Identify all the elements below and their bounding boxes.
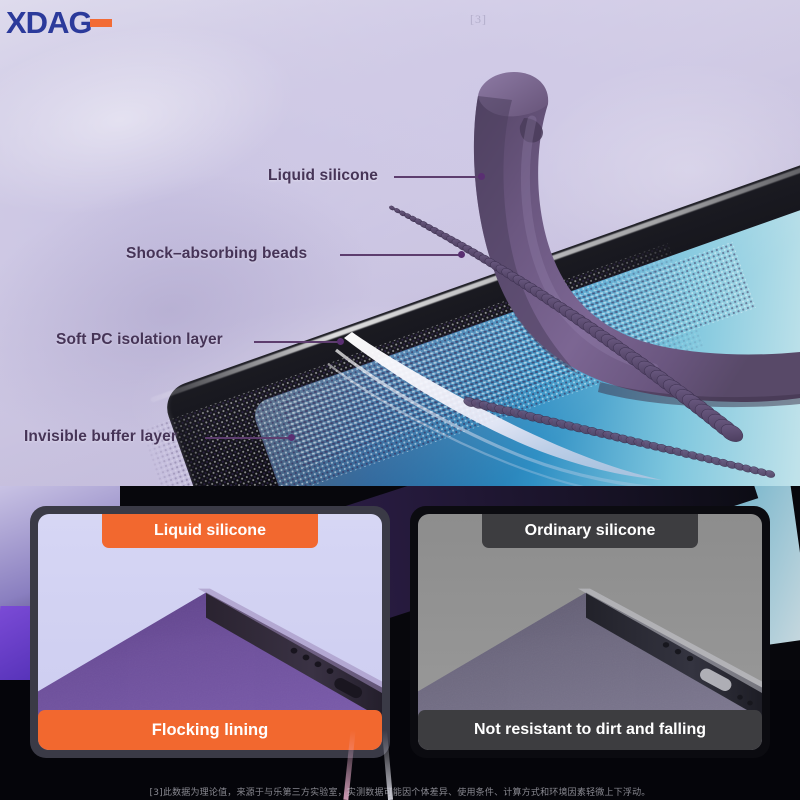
right-panel-bottom-banner: Not resistant to dirt and falling [418, 710, 762, 750]
leader-dot-soft-pc-isolation-layer [337, 338, 344, 345]
callout-soft-pc-isolation-layer: Soft PC isolation layer [56, 331, 223, 349]
watermark-label: [3] [470, 12, 487, 27]
logo-accent-bar [90, 19, 112, 27]
comparison-panel-ordinary-silicone: Ordinary silicone Not resistant to dirt … [410, 506, 770, 758]
hero-section: Liquid silicone Shock–absorbing beads So… [0, 0, 800, 520]
leader-line-liquid-silicone [394, 176, 480, 178]
leader-line-soft-pc-isolation-layer [254, 341, 342, 343]
leader-dot-invisible-buffer-layer [288, 434, 295, 441]
comparison-section: Liquid silicone Flocking lining [0, 486, 800, 800]
leader-line-shock-absorbing-beads [340, 254, 462, 256]
left-panel-top-banner: Liquid silicone [102, 514, 319, 548]
comparison-panel-liquid-silicone: Liquid silicone Flocking lining [30, 506, 390, 758]
callout-shock-absorbing-beads: Shock–absorbing beads [126, 245, 307, 263]
callout-invisible-buffer-layer: Invisible buffer layer [24, 428, 177, 446]
logo-wordmark: XDAG [6, 6, 92, 40]
leader-dot-liquid-silicone [478, 173, 485, 180]
xdag-logo: XDAG [6, 6, 136, 40]
callout-liquid-silicone: Liquid silicone [268, 167, 378, 185]
leader-dot-shock-absorbing-beads [458, 251, 465, 258]
right-panel-top-banner: Ordinary silicone [482, 514, 699, 548]
footer-disclaimer: [3]此数据为理论值，来源于与乐第三方实验室，实测数据可能因个体差异、使用条件、… [0, 785, 800, 798]
panel-inner-right: Ordinary silicone Not resistant to dirt … [418, 514, 762, 750]
left-panel-bottom-banner: Flocking lining [38, 710, 382, 750]
panel-inner-left: Liquid silicone Flocking lining [38, 514, 382, 750]
leader-line-invisible-buffer-layer [205, 437, 293, 439]
